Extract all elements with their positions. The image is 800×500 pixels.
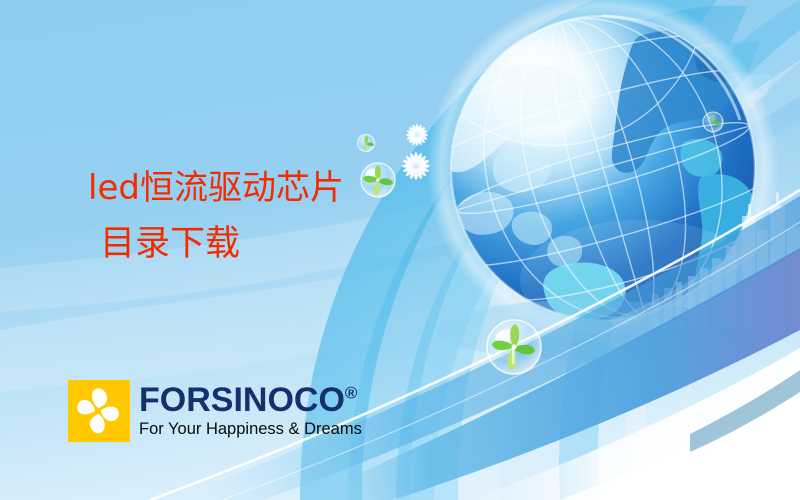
logo-wordmark-text: FORSINOCO xyxy=(139,381,345,419)
logo-wordmark: FORSINOCO® xyxy=(139,382,362,418)
promotional-banner: led恒流驱动芯片 目录下载 FORSINOCO® For Your Happi… xyxy=(0,0,800,500)
bubble-pinwheel-tiny xyxy=(703,112,723,132)
starburst-sparkle xyxy=(402,152,430,180)
registered-trademark-icon: ® xyxy=(345,384,358,403)
company-logo: FORSINOCO® For Your Happiness & Dreams xyxy=(68,380,362,442)
bubble-pinwheel-large xyxy=(487,320,541,374)
bubble-pinwheel-medium xyxy=(361,163,395,197)
bubble-pinwheel-small xyxy=(358,135,375,153)
four-petal-flower-icon xyxy=(68,380,130,442)
starburst-sparkle xyxy=(406,124,428,146)
logo-tagline: For Your Happiness & Dreams xyxy=(139,419,362,439)
